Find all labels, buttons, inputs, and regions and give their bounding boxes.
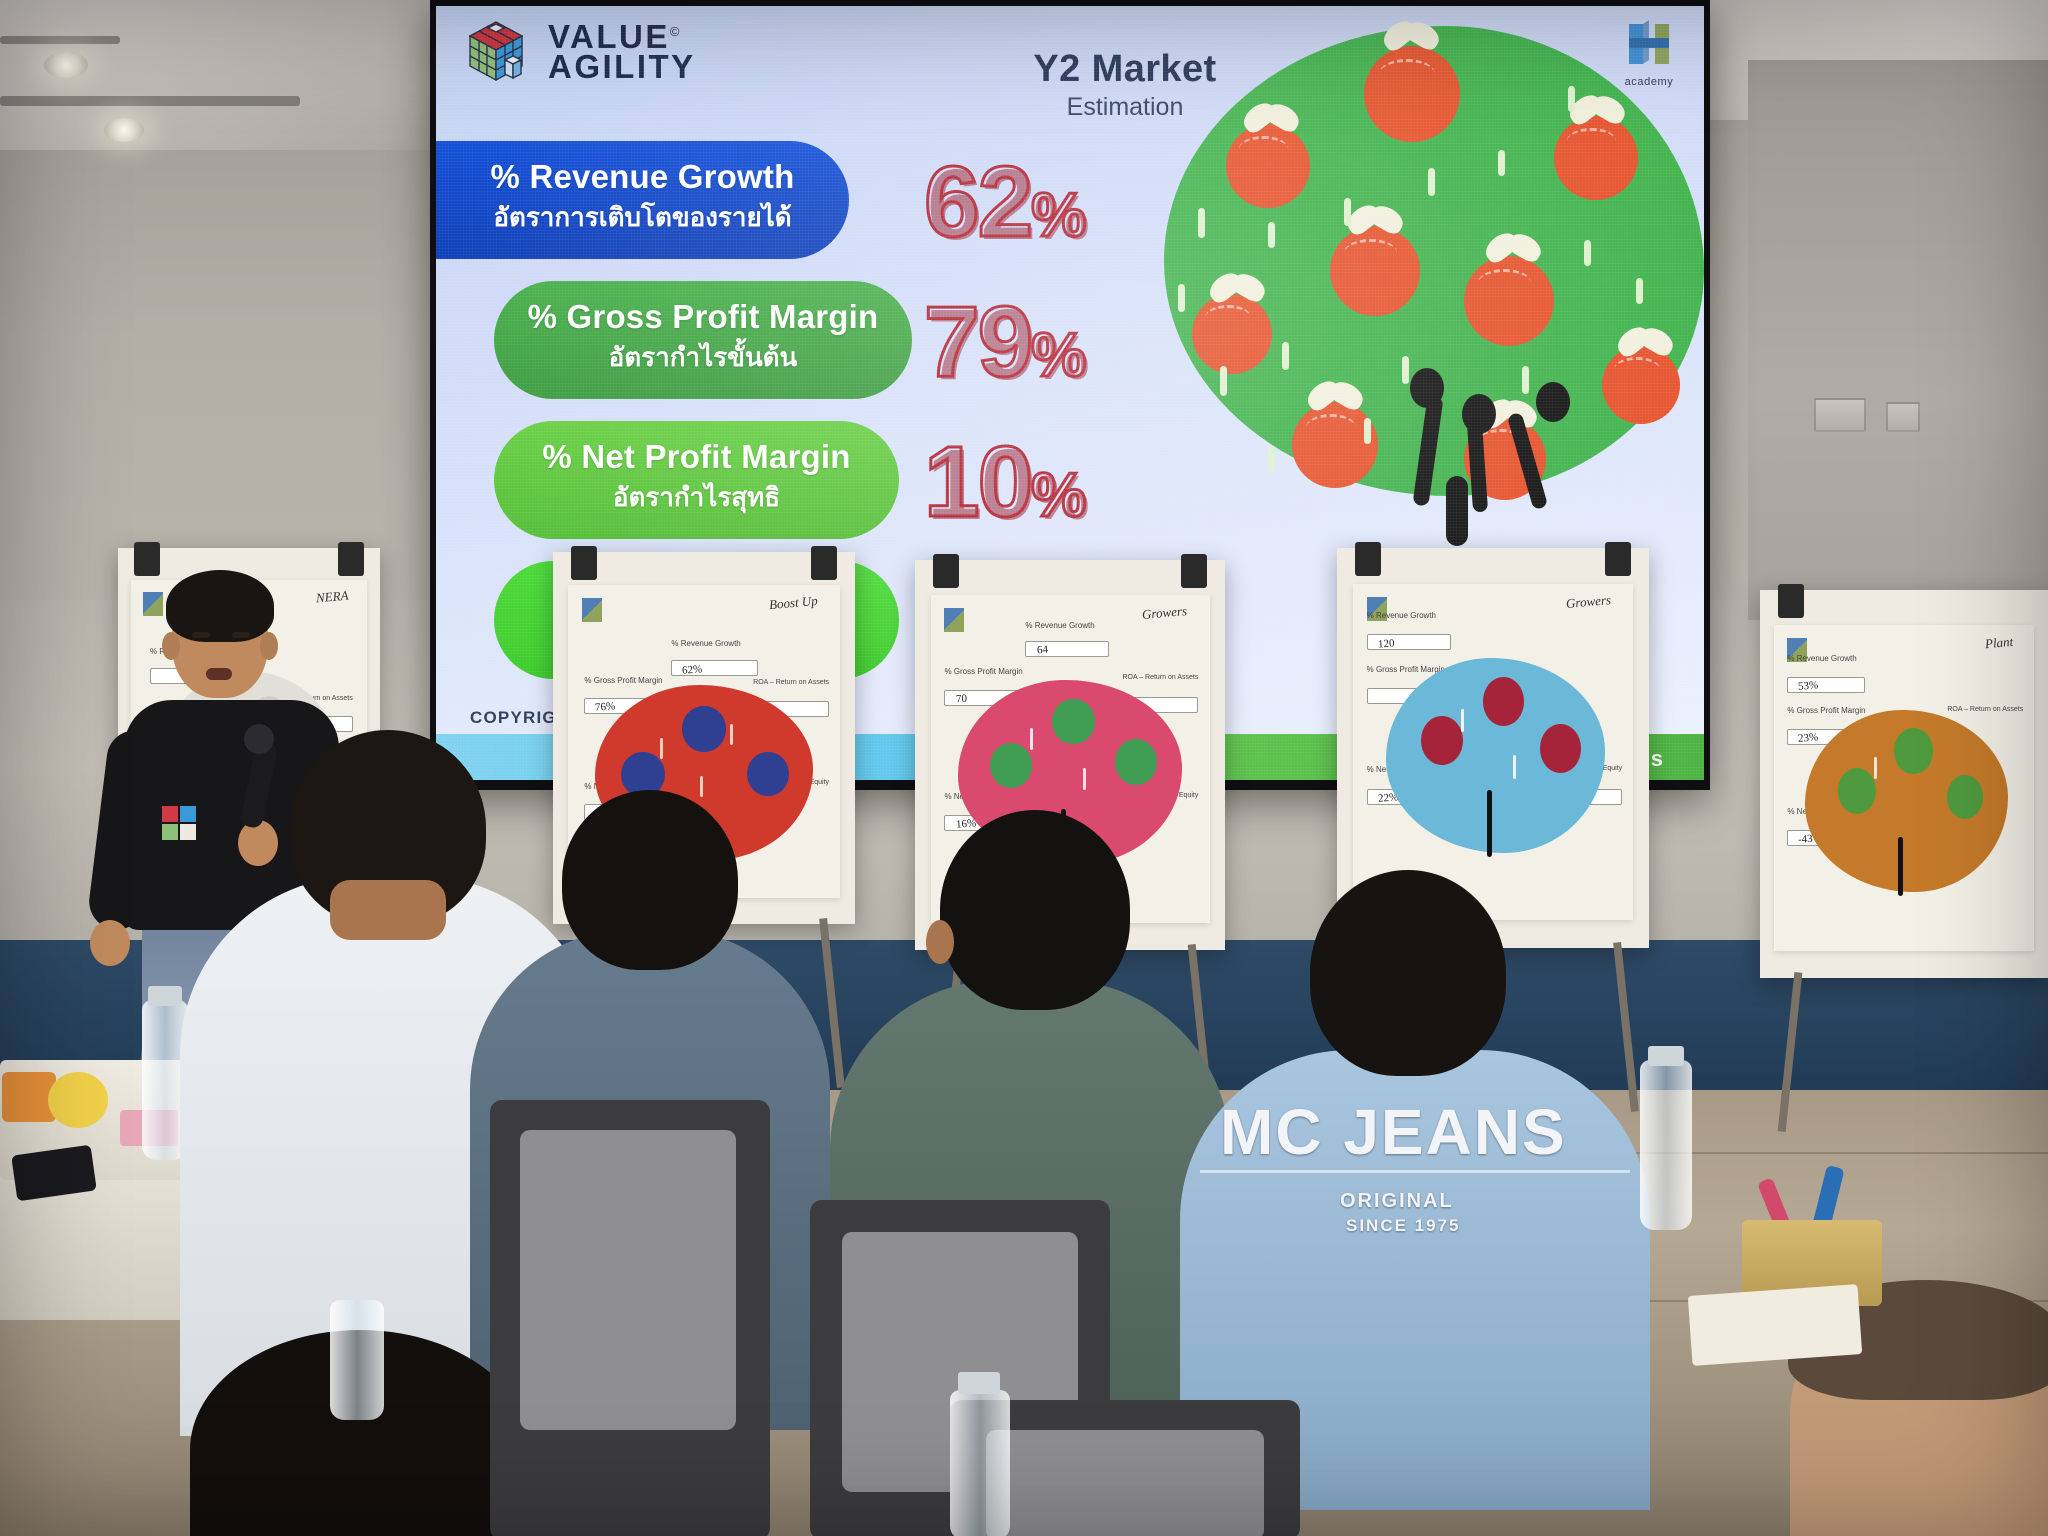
mini-fruit	[1052, 699, 1094, 745]
mini-dash	[730, 724, 733, 745]
attendee-head	[1310, 870, 1506, 1076]
flipchart-clip	[1355, 542, 1381, 576]
leaf-pair-1	[1382, 24, 1442, 54]
bottle-cap	[148, 986, 182, 1006]
mini-fruit	[1483, 677, 1525, 726]
metric-pill-net-profit-margin: % Net Profit Margin อัตรากำไรสุทธิ	[494, 421, 899, 539]
mini-branch	[1898, 837, 1903, 895]
mini-fruit	[1421, 716, 1463, 765]
canopy-dash-2	[1268, 222, 1275, 248]
attendee-head	[940, 810, 1130, 1010]
worksheet-label: % Revenue Growth	[1367, 611, 1436, 620]
attendee-head	[562, 790, 738, 970]
water-bottle-mid	[330, 1300, 384, 1420]
mini-dash	[1461, 709, 1464, 732]
fruit-5	[1464, 256, 1554, 346]
presenter-ear	[260, 632, 278, 660]
fruit-7	[1292, 402, 1378, 488]
mini-dash	[1030, 728, 1033, 750]
worksheet-answer: 53%	[1797, 680, 1818, 693]
metric-row-gross-profit-margin: % Gross Profit Margin อัตรากำไรขั้นต้น 7…	[436, 281, 1196, 399]
flipchart-clip	[1181, 554, 1207, 588]
metric-value-number: 62	[924, 146, 1031, 258]
canopy-dash-14	[1636, 278, 1643, 304]
brand-logo: VALUE© AGILITY	[462, 14, 696, 90]
canopy-dash-9	[1282, 342, 1289, 370]
canopy-dash-1	[1198, 208, 1205, 238]
wall-panel-right	[1748, 60, 2048, 620]
canopy-dash-4	[1428, 168, 1435, 196]
metric-value-percent: %	[1031, 461, 1084, 530]
metric-pill-revenue-growth: % Revenue Growth อัตราการเติบโตของรายได้	[436, 141, 849, 259]
worksheet-label: % Revenue Growth	[1787, 654, 1856, 663]
flipchart-hand-title: Plant	[1984, 633, 2013, 651]
leaf-pair-4	[1346, 208, 1406, 238]
leaf-pair-5	[1484, 236, 1544, 266]
jacket-sub-text-1: ORIGINAL	[1340, 1190, 1454, 1213]
canopy-dash-7	[1178, 284, 1185, 312]
fruit-1	[1364, 46, 1460, 142]
worksheet-label: % Revenue Growth	[1025, 621, 1094, 630]
jacket-sub-text-2: SINCE 1975	[1346, 1216, 1461, 1236]
bottle-cap-front	[958, 1372, 1000, 1394]
metric-label-en: % Net Profit Margin	[542, 438, 850, 476]
presenter-eye	[192, 632, 210, 638]
flipchart-hand-title: Boost Up	[769, 593, 819, 613]
leaf-pair-9	[1616, 330, 1676, 360]
metric-value-revenue-growth: 62%	[924, 145, 1084, 260]
metric-label-th: อัตรากำไรสุทธิ	[613, 477, 780, 518]
mini-fruit	[990, 743, 1032, 789]
chair-3-cushion	[986, 1430, 1264, 1536]
coaster-yellow	[48, 1072, 108, 1128]
room-scene: VALUE© AGILITY academy Y2 Market Estimat…	[0, 0, 2048, 1536]
metric-label-en: % Revenue Growth	[491, 158, 795, 196]
worksheet-label: % Revenue Growth	[671, 639, 740, 648]
presenter-hand-left	[90, 920, 130, 966]
fruit-6	[1192, 294, 1272, 374]
downlight-1	[44, 52, 88, 78]
metric-pill-gross-profit-margin: % Gross Profit Margin อัตรากำไรขั้นต้น	[494, 281, 912, 399]
metric-value-number: 79	[924, 286, 1031, 398]
worksheet-answer: 120	[1377, 637, 1394, 650]
metric-row-net-profit-margin: % Net Profit Margin อัตรากำไรสุทธิ 10%	[436, 421, 1196, 539]
attendee-mcjeans-jacket: MC JEANS ORIGINAL SINCE 1975	[1180, 870, 1650, 1490]
rubiks-cube-icon	[462, 14, 536, 90]
presenter-hair	[166, 570, 274, 642]
canopy-dash-5	[1498, 150, 1505, 176]
jacket-brand-text: MC JEANS	[1220, 1095, 1567, 1169]
canopy-dash-16	[1268, 446, 1275, 472]
worksheet-label: % Gross Profit Margin	[584, 676, 662, 685]
ceiling-slot-2	[0, 36, 120, 44]
presenter-eye	[232, 632, 250, 638]
canopy-dash-15	[1364, 418, 1371, 444]
canopy-dash-10	[1402, 356, 1409, 384]
ceiling-slot-1	[0, 96, 300, 106]
worksheet-answer: 62%	[682, 663, 703, 676]
presenter-mouth	[206, 668, 232, 680]
canopy-dash-3	[1344, 198, 1351, 226]
brand-line-1: VALUE	[548, 18, 670, 55]
downlight-2	[104, 118, 144, 142]
brand-copyright-mark: ©	[670, 24, 682, 39]
metric-label-th: อัตรากำไรขั้นต้น	[609, 337, 798, 378]
wall-switch-plate	[1886, 402, 1920, 432]
water-bottle-right	[1640, 1060, 1692, 1230]
worksheet-answer: 64	[1036, 644, 1048, 657]
presenter-ear	[162, 632, 180, 660]
mini-branch	[1487, 790, 1492, 856]
flipchart-clip	[811, 546, 837, 580]
bottle-cap-right	[1648, 1046, 1684, 1066]
fruit-2	[1226, 124, 1310, 208]
mini-fruit	[1540, 724, 1582, 773]
leaf-pair-3	[1568, 98, 1628, 128]
h-academy-icon	[582, 598, 602, 622]
flipchart-paper: Plant % Revenue Growth 53% % Gross Profi…	[1774, 625, 2033, 951]
metric-label-th: อัตราการเติบโตของรายได้	[493, 197, 791, 238]
water-bottle-front	[950, 1390, 1010, 1536]
brand-wordmark: VALUE© AGILITY	[548, 22, 696, 83]
canopy-dash-12	[1522, 366, 1529, 394]
notepad	[1688, 1284, 1862, 1366]
metric-value-percent: %	[1031, 321, 1084, 390]
mini-fruit	[682, 706, 725, 751]
orange-tree-illustration	[1164, 26, 1704, 546]
mini-dash	[1513, 755, 1516, 778]
metric-value-percent: %	[1031, 181, 1084, 250]
canopy-dash-6	[1568, 86, 1575, 112]
metric-label-en: % Gross Profit Margin	[528, 298, 879, 336]
canopy-dash-13	[1584, 240, 1591, 266]
flipchart-clip	[1605, 542, 1631, 576]
flipchart-clip	[571, 546, 597, 580]
branch-knob-3	[1536, 382, 1570, 422]
jacket-yoke-seam	[1200, 1170, 1630, 1173]
mini-fruit	[1115, 739, 1157, 785]
flipchart-hand-title: Growers	[1565, 592, 1611, 612]
brand-line-2: AGILITY	[548, 52, 696, 82]
metric-value-number: 10	[924, 426, 1031, 538]
attendee-ear	[926, 920, 954, 964]
metric-row-revenue-growth: % Revenue Growth อัตราการเติบโตของรายได้…	[436, 141, 1196, 259]
worksheet-label: % Gross Profit Margin	[944, 667, 1022, 676]
fruit-3	[1554, 116, 1638, 200]
canopy-dash-8	[1220, 366, 1227, 396]
mini-fruit	[1894, 728, 1932, 774]
leaf-pair-2	[1242, 106, 1302, 136]
fruit-4	[1330, 226, 1420, 316]
h-academy-icon	[944, 608, 964, 632]
flipchart-clip	[933, 554, 959, 588]
attendee-neck	[330, 880, 446, 940]
mini-tree-illustration	[1386, 658, 1605, 853]
mini-fruit	[1838, 768, 1876, 814]
flipchart-clip	[1778, 584, 1804, 618]
flipchart-5: Plant % Revenue Growth 53% % Gross Profi…	[1760, 590, 2048, 978]
mini-dash	[1874, 757, 1877, 779]
metric-value-net-profit-margin: 10%	[924, 425, 1084, 540]
leaf-pair-6	[1208, 276, 1268, 306]
mini-tree-illustration	[1805, 710, 2007, 893]
leaf-pair-7	[1306, 384, 1366, 414]
flipchart-hand-title: Growers	[1142, 603, 1188, 623]
wall-vent-icon	[1814, 398, 1866, 432]
metric-value-gross-profit-margin: 79%	[924, 285, 1084, 400]
chair-1-cushion	[520, 1130, 736, 1430]
presenter-head	[172, 580, 268, 698]
mini-dash	[1083, 768, 1086, 790]
branch-trunk	[1446, 476, 1468, 546]
